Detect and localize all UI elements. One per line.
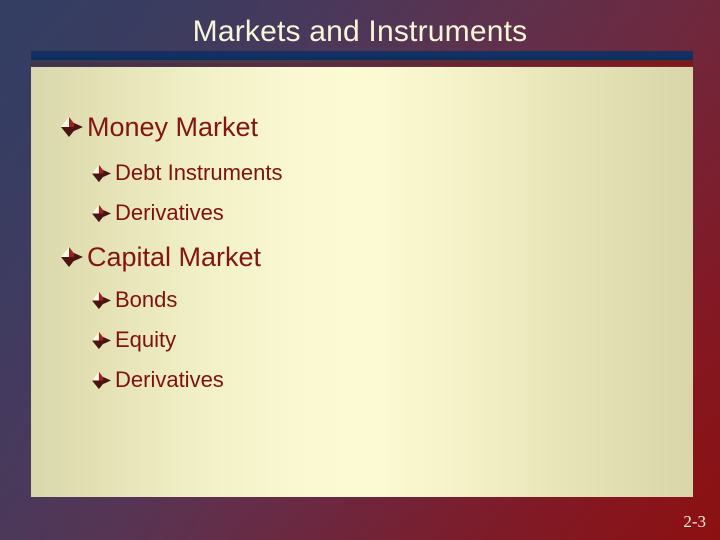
diamond-arrow-bullet-icon [91,204,112,222]
bullet-list: Money MarketDebt InstrumentsDerivativesC… [31,67,693,497]
title-underline-red [31,63,693,66]
title-underline-navy [31,51,693,60]
bullet-item: Money Market [60,112,258,142]
bullet-label: Derivatives [115,367,224,392]
diamond-arrow-bullet-icon [91,331,112,349]
bullet-label: Capital Market [87,242,261,272]
bullet-item: Derivatives [91,200,224,225]
diamond-arrow-bullet-icon [91,164,112,182]
diamond-arrow-bullet-icon [60,116,84,138]
bullet-label: Debt Instruments [115,160,283,185]
presentation-slide: Markets and Instruments Money MarketDebt… [0,0,720,540]
bullet-label: Derivatives [115,200,224,225]
diamond-arrow-bullet-icon [91,371,112,389]
page-number: 2-3 [683,512,706,532]
bullet-item: Debt Instruments [91,160,283,185]
bullet-label: Equity [115,327,176,352]
bullet-item: Capital Market [60,242,261,272]
bullet-item: Bonds [91,287,177,312]
diamond-arrow-bullet-icon [91,291,112,309]
bullet-item: Derivatives [91,367,224,392]
slide-title: Markets and Instruments [0,14,720,50]
bullet-label: Money Market [87,112,258,142]
bullet-label: Bonds [115,287,177,312]
bullet-item: Equity [91,327,176,352]
diamond-arrow-bullet-icon [60,246,84,268]
